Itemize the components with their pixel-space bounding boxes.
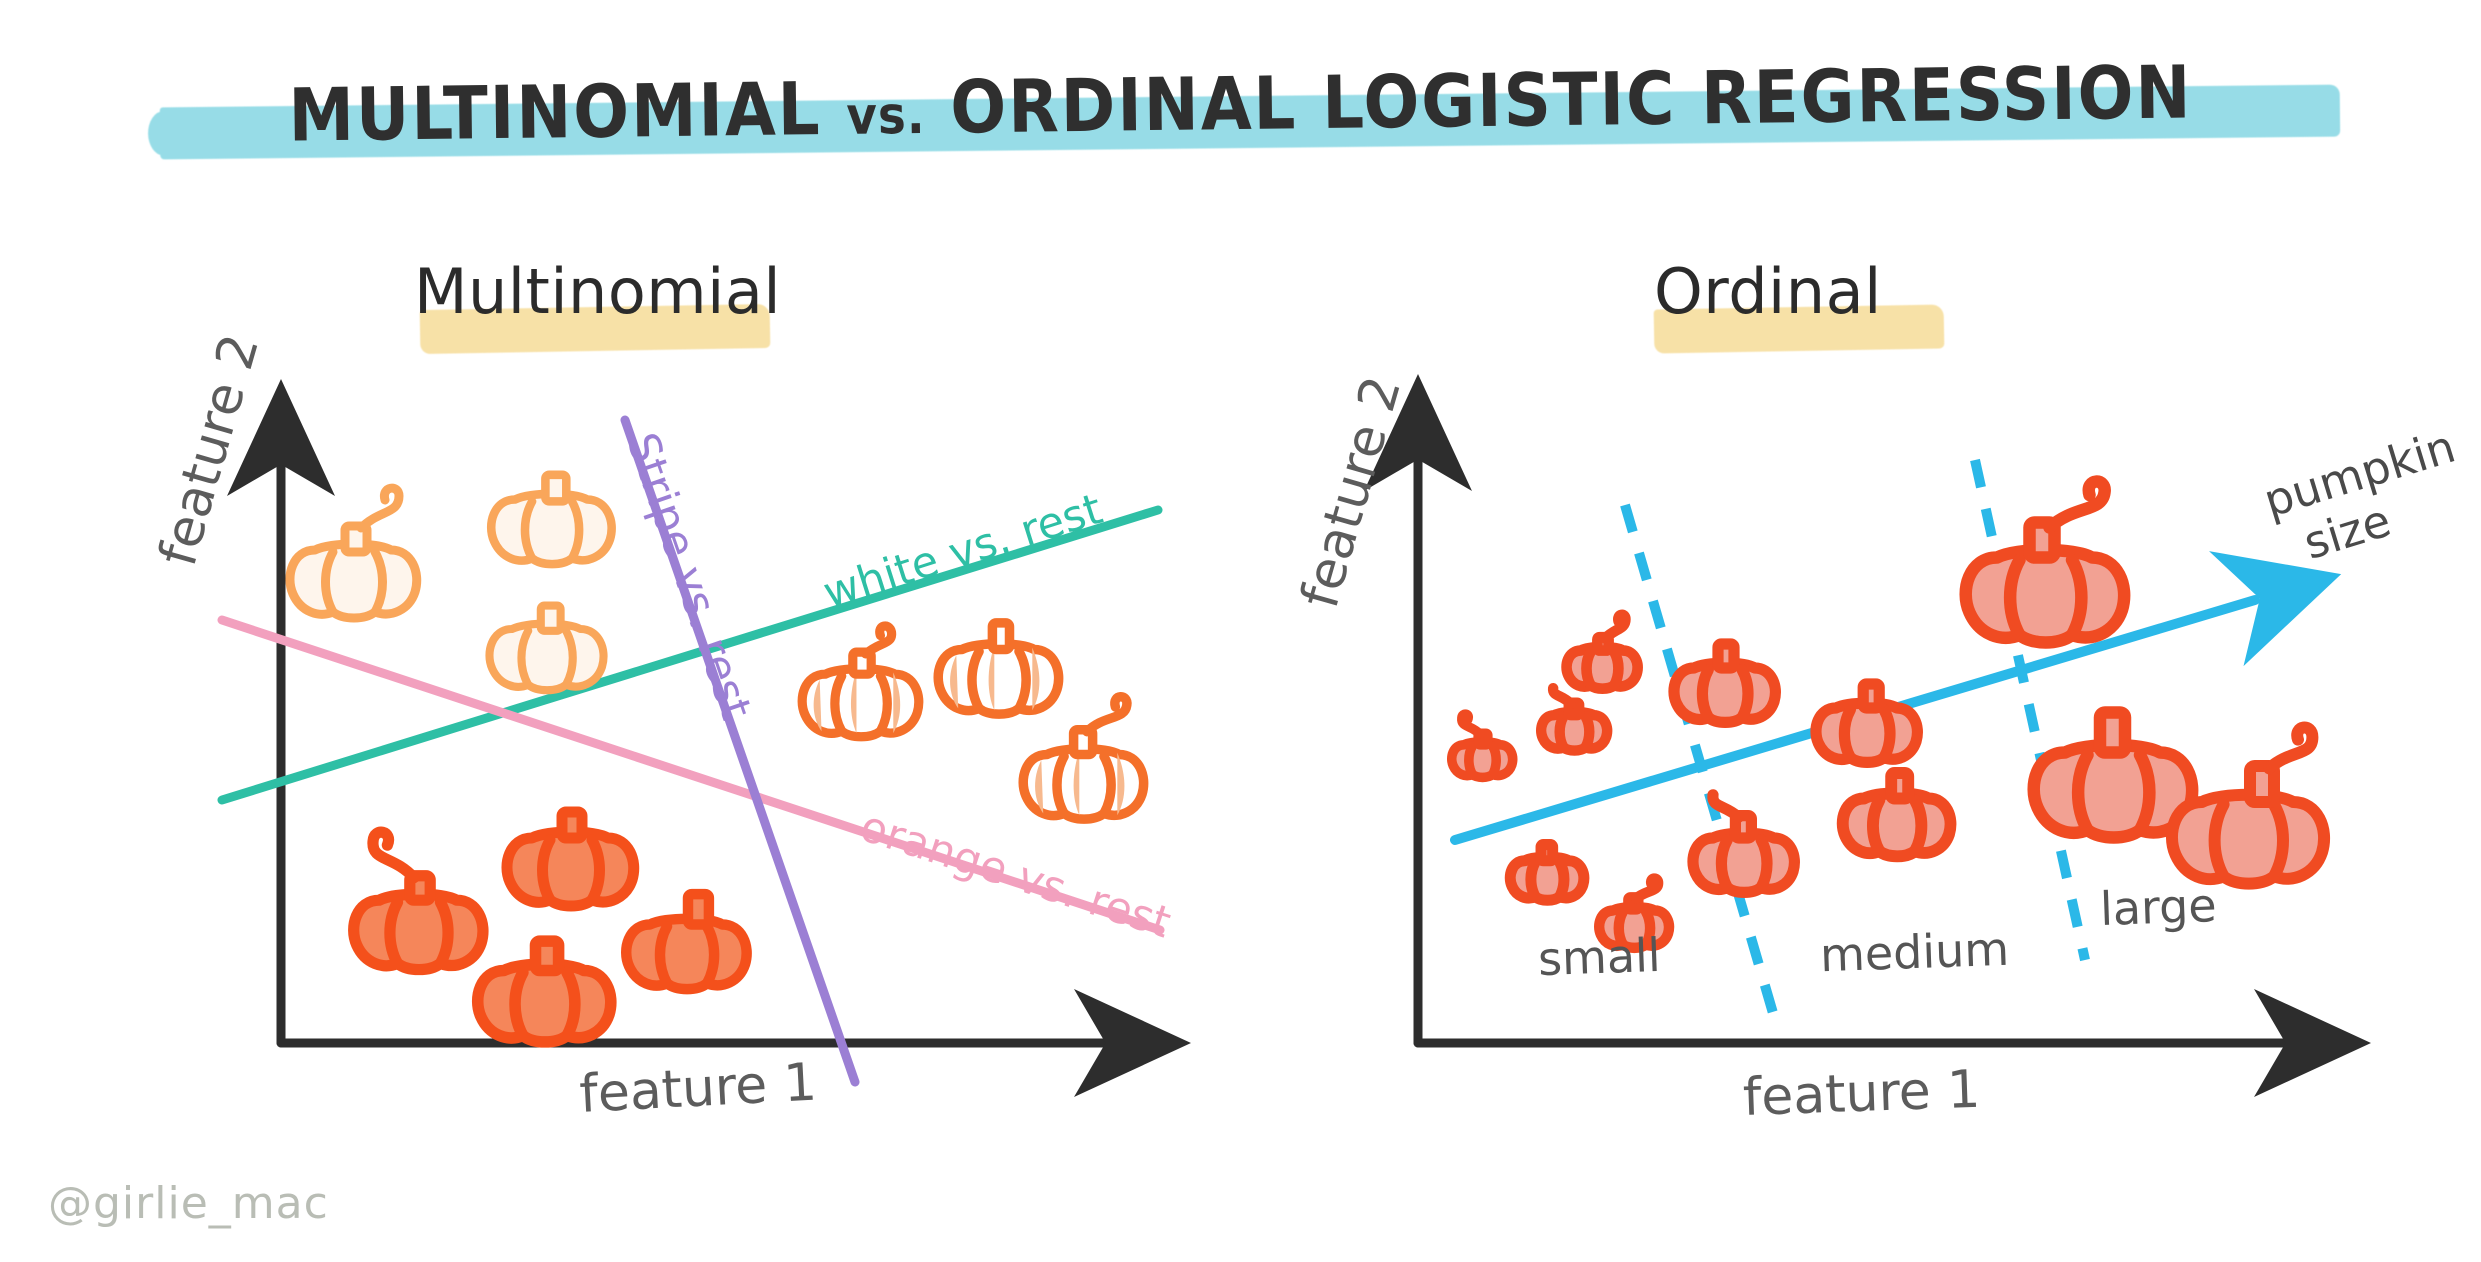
pumpkin-small-4 bbox=[1510, 845, 1584, 901]
size-label-medium: medium bbox=[1819, 922, 2010, 983]
title-part-vs: vs. bbox=[846, 86, 926, 147]
left-x-axis-label: feature 1 bbox=[578, 1053, 818, 1125]
boundary-label-orange-vs-rest: orange vs. rest bbox=[854, 801, 1176, 948]
size-label-small: small bbox=[1537, 928, 1661, 986]
pumpkin-white-3 bbox=[489, 606, 603, 691]
pumpkin-orange-2 bbox=[507, 812, 634, 906]
left-y-axis-label: feature 2 bbox=[148, 328, 271, 573]
page-title-area: MULTINOMIAL vs. ORDINAL LOGISTIC REGRESS… bbox=[0, 40, 2481, 150]
trend-arrow-pumpkin-size bbox=[1455, 600, 2255, 840]
pumpkin-orange-4 bbox=[626, 894, 746, 989]
multinomial-label: Multinomial bbox=[414, 255, 781, 328]
pumpkin-large-1 bbox=[1966, 482, 2124, 643]
boundary-label-white-vs-rest: white vs. rest bbox=[817, 484, 1108, 619]
pumpkin-medium-4 bbox=[1843, 773, 1951, 856]
drawing-layer bbox=[0, 0, 2481, 1262]
divider-medium-large bbox=[1975, 460, 2085, 960]
pumpkin-orange-1 bbox=[354, 832, 483, 969]
title-part-ordinal: ORDINAL LOGISTIC REGRESSION bbox=[950, 50, 2193, 150]
pumpkin-stripe-2 bbox=[938, 623, 1058, 714]
pumpkin-medium-1 bbox=[1674, 644, 1775, 722]
title-part-multinomial: MULTINOMIAL bbox=[288, 67, 822, 159]
pumpkin-small-1 bbox=[1452, 714, 1513, 777]
pumpkin-medium-3 bbox=[1693, 795, 1794, 893]
pumpkin-stripe-1 bbox=[802, 626, 919, 737]
size-label-large: large bbox=[2099, 878, 2217, 936]
right-y-axis-label: feature 2 bbox=[1290, 370, 1413, 615]
pumpkin-stripe-3 bbox=[1023, 697, 1143, 819]
pumpkin-small-3 bbox=[1567, 615, 1638, 689]
ordinal-label: Ordinal bbox=[1654, 255, 1882, 328]
pumpkin-white-1 bbox=[290, 488, 417, 618]
pumpkin-small-2 bbox=[1541, 688, 1607, 750]
trend-arrow-label: pumpkin size bbox=[2258, 421, 2476, 577]
pumpkin-large-3 bbox=[2172, 728, 2324, 884]
boundary-label-stripe-vs-rest: Stripe vs. rest bbox=[616, 427, 761, 726]
pumpkin-white-2 bbox=[491, 475, 611, 564]
pumpkin-medium-2 bbox=[1816, 684, 1917, 762]
page-title: MULTINOMIAL vs. ORDINAL LOGISTIC REGRESS… bbox=[0, 47, 2481, 162]
pumpkin-large-2 bbox=[2034, 713, 2192, 838]
diagram-canvas: MULTINOMIAL vs. ORDINAL LOGISTIC REGRESS… bbox=[0, 0, 2481, 1262]
watermark-handle: @girlie_mac bbox=[48, 1178, 329, 1229]
pumpkin-orange-3 bbox=[478, 941, 611, 1042]
right-x-axis-label: feature 1 bbox=[1742, 1060, 1981, 1128]
